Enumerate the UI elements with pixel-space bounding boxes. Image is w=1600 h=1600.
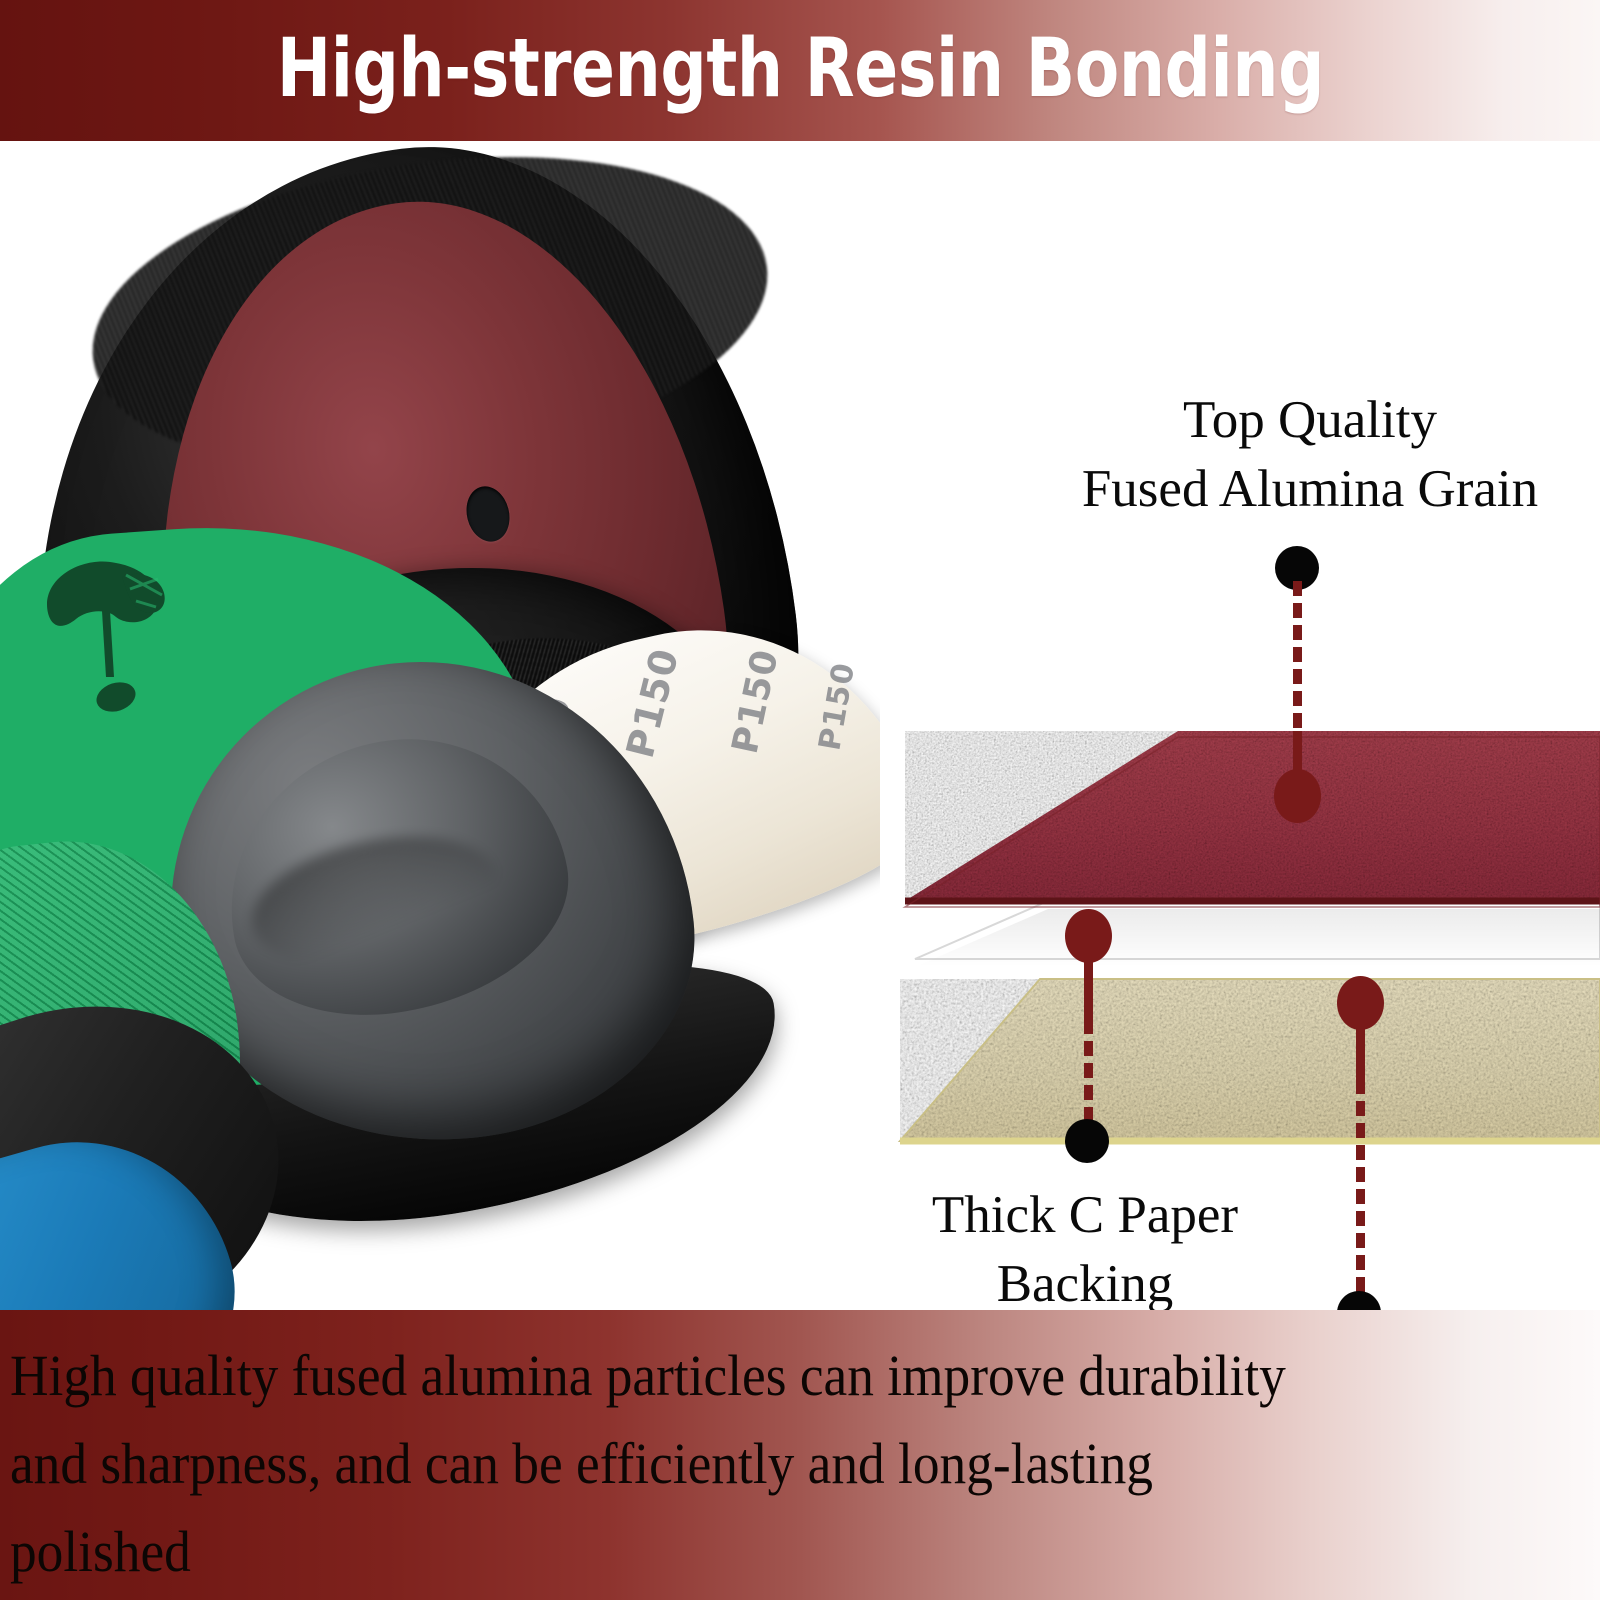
tree-logo-icon xyxy=(30,551,190,741)
callout-label-grain-line1: Top Quality xyxy=(1020,386,1600,455)
layer-paper-backing xyxy=(915,901,1600,967)
infographic-page: High-strength Resin Bonding P150 P150 P1… xyxy=(0,0,1600,1600)
callout-label-paper-line2: Backing xyxy=(845,1250,1325,1310)
callout-label-paper: Thick C Paper Backing xyxy=(845,1181,1325,1310)
page-title: High-strength Resin Bonding xyxy=(276,29,1323,110)
layer-abrasive-grain xyxy=(905,731,1600,907)
footer-caption: High quality fused alumina particles can… xyxy=(10,1332,1464,1596)
callout-label-grain-line2: Fused Alumina Grain xyxy=(1020,455,1600,524)
layer-stack-svg xyxy=(860,141,1600,1310)
callout-label-paper-line1: Thick C Paper xyxy=(845,1181,1325,1250)
layer-velcro-back xyxy=(900,979,1600,1141)
footer-banner: High quality fused alumina particles can… xyxy=(0,1310,1600,1600)
exploded-layer-diagram xyxy=(860,141,1600,1310)
callout-anchor-dot-paper xyxy=(1065,1119,1109,1163)
callout-dash-line-velcro xyxy=(1356,1079,1365,1301)
header-banner: High-strength Resin Bonding xyxy=(0,0,1600,141)
callout-label-grain: Top Quality Fused Alumina Grain xyxy=(1020,386,1600,524)
callout-line-velcro-solid xyxy=(1356,1021,1365,1083)
callout-marker-dot-grain xyxy=(1274,769,1321,823)
callout-line-paper-solid xyxy=(1084,953,1093,1023)
main-content: P150 P150 P150 P150 xyxy=(0,141,1600,1310)
product-photo: P150 P150 P150 P150 xyxy=(0,141,880,1310)
